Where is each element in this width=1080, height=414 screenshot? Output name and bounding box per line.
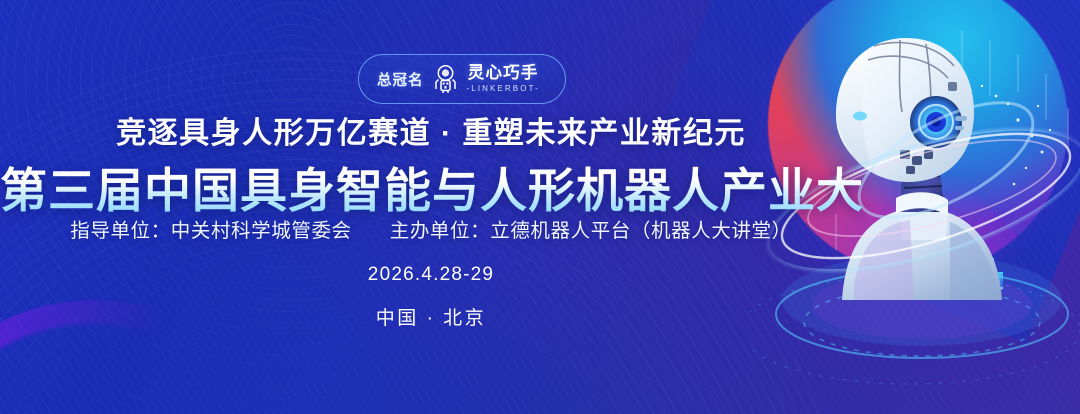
sponsor-badge-label: 总冠名 <box>377 69 424 90</box>
event-location: 中国 · 北京 <box>0 303 862 330</box>
sponsor-brand-cn: 灵心巧手 <box>468 65 539 82</box>
robot-astronaut-icon <box>433 64 458 94</box>
sponsor-brand-en: -LINKERBOT- <box>467 85 540 93</box>
sponsor-badge[interactable]: 总冠名 灵心巧手 -LINKERBOT- <box>358 54 566 104</box>
guidance-unit: 指导单位：中关村科学城管委会 <box>70 220 351 242</box>
banner-title: 第三届中国具身智能与人形机器人产业大会 <box>0 152 862 221</box>
host-unit: 主办单位：立德机器人平台（机器人大讲堂） <box>390 220 792 242</box>
organizer-line: 指导单位：中关村科学城管委会 主办单位：立德机器人平台（机器人大讲堂） <box>0 214 862 243</box>
event-date: 2026.4.28-29 <box>0 264 862 286</box>
conference-banner: 总冠名 灵心巧手 -LINKERBOT- <box>0 0 1080 414</box>
banner-subtitle: 竞逐具身人形万亿赛道 · 重塑未来产业新纪元 <box>0 108 862 152</box>
sponsor-brand: 灵心巧手 -LINKERBOT- <box>467 65 540 93</box>
